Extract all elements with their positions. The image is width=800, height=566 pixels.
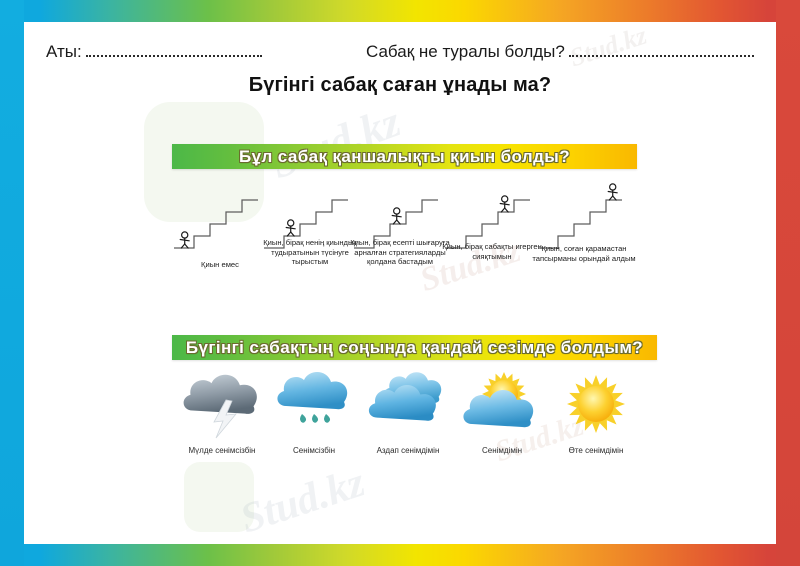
worksheet-page: Stud.kz Stud.kz Stud.kz Stud.kz Stud.kz … bbox=[24, 22, 776, 544]
difficulty-step-4[interactable]: Қиын, бірақ сабақты игерген сияқтымын bbox=[444, 174, 540, 329]
feeling-banner: Бүгінгі сабақтың соңында қандай сезімде … bbox=[172, 335, 657, 360]
topic-input-line[interactable] bbox=[569, 43, 754, 57]
sun-icon bbox=[548, 370, 644, 442]
poster-frame: Stud.kz Stud.kz Stud.kz Stud.kz Stud.kz … bbox=[0, 0, 800, 566]
frame-right-band bbox=[776, 0, 800, 566]
feeling-option-label: Өте сенімдімін bbox=[540, 446, 652, 456]
name-field-group: Аты: bbox=[46, 42, 262, 62]
feeling-scale: Мүлде сенімсізбінСенімсізбінАздап сенімд… bbox=[174, 370, 664, 490]
feeling-banner-text: Бүгінгі сабақтың соңында қандай сезімде … bbox=[172, 338, 657, 358]
difficulty-step-5[interactable]: Қиын, соған қарамастан тапсырманы орында… bbox=[536, 174, 632, 329]
difficulty-step-2[interactable]: Қиын, бірақ ненің қиындық тудыратынын тү… bbox=[262, 174, 358, 329]
name-input-line[interactable] bbox=[86, 43, 262, 57]
topic-label: Сабақ не туралы болды? bbox=[366, 42, 565, 62]
topic-field-group: Сабақ не туралы болды? bbox=[366, 42, 754, 62]
difficulty-banner-text: Бұл сабақ қаншалықты қиын болды? bbox=[172, 147, 637, 167]
feeling-option-5[interactable]: Өте сенімдімін bbox=[548, 370, 644, 490]
difficulty-step-label: Қиын, соған қарамастан тапсырманы орында… bbox=[530, 244, 638, 263]
sun-behind-cloud-icon bbox=[454, 370, 550, 442]
staircase-icon bbox=[172, 174, 268, 254]
difficulty-step-1[interactable]: Қиын емес bbox=[172, 174, 268, 329]
page-title: Бүгінгі сабақ саған ұнады ма? bbox=[24, 74, 776, 97]
name-label: Аты: bbox=[46, 42, 82, 62]
rain-cloud-icon bbox=[266, 370, 362, 442]
difficulty-banner: Бұл сабақ қаншалықты қиын болды? bbox=[172, 144, 637, 169]
staircase-icon bbox=[536, 174, 632, 254]
frame-left-band bbox=[0, 0, 24, 566]
feeling-option-1[interactable]: Мүлде сенімсізбін bbox=[174, 370, 270, 490]
header-row: Аты: Сабақ не туралы болды? bbox=[46, 42, 756, 72]
feeling-option-2[interactable]: Сенімсізбін bbox=[266, 370, 362, 490]
difficulty-scale: Қиын емесҚиын, бірақ ненің қиындық тудыр… bbox=[172, 174, 652, 329]
difficulty-step-3[interactable]: Қиын, бірақ есепті шығаруға арналған стр… bbox=[352, 174, 448, 329]
feeling-option-4[interactable]: Сенімдімін bbox=[454, 370, 550, 490]
cloudy-icon bbox=[360, 370, 456, 442]
feeling-option-3[interactable]: Аздап сенімдімін bbox=[360, 370, 456, 490]
storm-cloud-lightning-icon bbox=[174, 370, 270, 442]
